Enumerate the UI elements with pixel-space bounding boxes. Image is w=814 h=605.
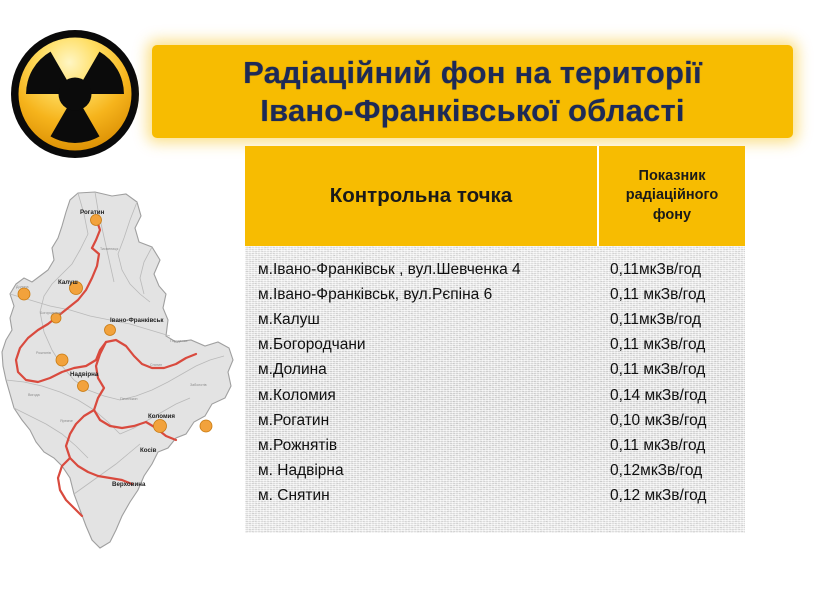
svg-text:Рожнятів: Рожнятів bbox=[36, 351, 51, 355]
column-header-radiation-value: Показник радіаційного фону bbox=[599, 146, 745, 246]
cell-control-point: м. Надвірна bbox=[245, 462, 597, 480]
page-title: Радіаційний фон на території Івано-Франк… bbox=[152, 45, 793, 138]
cell-radiation-value: 0,11мкЗв/год bbox=[597, 261, 745, 279]
cell-control-point: м.Івано-Франківськ , вул.Шевченка 4 bbox=[245, 261, 597, 279]
table-row: м. Снятин0,12 мкЗв/год bbox=[245, 484, 745, 509]
svg-text:Вигода: Вигода bbox=[28, 393, 40, 397]
cell-radiation-value: 0,11 мкЗв/год bbox=[597, 361, 745, 379]
table-header-row: Контрольна точка Показник радіаційного ф… bbox=[245, 146, 745, 246]
svg-text:Долина: Долина bbox=[16, 285, 28, 289]
table-row: м.Долина0,11 мкЗв/год bbox=[245, 358, 745, 383]
cell-control-point: м. Снятин bbox=[245, 487, 597, 505]
cell-control-point: м.Рожнятів bbox=[245, 437, 597, 455]
svg-text:Калуш: Калуш bbox=[58, 279, 78, 286]
cell-control-point: м.Богородчани bbox=[245, 336, 597, 354]
cell-control-point: м.Долина bbox=[245, 361, 597, 379]
svg-text:Заболотів: Заболотів bbox=[190, 383, 207, 387]
table-row: м.Івано-Франківськ, вул.Рєпіна 60,11 мкЗ… bbox=[245, 282, 745, 307]
cell-radiation-value: 0,14 мкЗв/год bbox=[597, 387, 745, 405]
cell-radiation-value: 0,11мкЗв/год bbox=[597, 311, 745, 329]
cell-control-point: м.Коломия bbox=[245, 387, 597, 405]
svg-text:Івано-Франківськ: Івано-Франківськ bbox=[110, 317, 164, 324]
cell-radiation-value: 0,12 мкЗв/год bbox=[597, 487, 745, 505]
table-row: м.Калуш0,11мкЗв/год bbox=[245, 307, 745, 332]
cell-control-point: м.Рогатин bbox=[245, 412, 597, 430]
table-row: м.Рожнятів0,11 мкЗв/год bbox=[245, 433, 745, 458]
cell-radiation-value: 0,11 мкЗв/год bbox=[597, 437, 745, 455]
cell-radiation-value: 0,11 мкЗв/год bbox=[597, 286, 745, 304]
svg-text:Тисмениця: Тисмениця bbox=[100, 247, 118, 251]
cell-control-point: м.Калуш bbox=[245, 311, 597, 329]
column-header-control-point: Контрольна точка bbox=[245, 146, 597, 246]
cell-radiation-value: 0,12мкЗв/год bbox=[597, 462, 745, 480]
table-body: м.Івано-Франківськ , вул.Шевченка 40,11м… bbox=[245, 246, 745, 533]
cell-radiation-value: 0,10 мкЗв/год bbox=[597, 412, 745, 430]
svg-text:Рогатин: Рогатин bbox=[80, 209, 105, 216]
table-row: м.Рогатин0,10 мкЗв/год bbox=[245, 408, 745, 433]
svg-text:Косів: Косів bbox=[140, 447, 157, 454]
table-row: м.Коломия0,14 мкЗв/год bbox=[245, 383, 745, 408]
table-row: м.Івано-Франківськ , вул.Шевченка 40,11м… bbox=[245, 257, 745, 282]
svg-text:Печеніжин: Печеніжин bbox=[120, 397, 138, 401]
radiation-readings-table: Контрольна точка Показник радіаційного ф… bbox=[245, 146, 745, 533]
column-header-line-2: радіаційного bbox=[626, 186, 718, 206]
svg-text:Надвірна: Надвірна bbox=[70, 371, 99, 378]
column-header-line-3: фону bbox=[626, 206, 718, 226]
column-header-line-1: Показник bbox=[626, 167, 718, 187]
page-title-line-2: Івано-Франківської області bbox=[260, 92, 684, 130]
svg-text:Богородчани: Богородчани bbox=[40, 311, 61, 315]
cell-control-point: м.Івано-Франківськ, вул.Рєпіна 6 bbox=[245, 286, 597, 304]
table-row: м. Надвірна0,12мкЗв/год bbox=[245, 459, 745, 484]
svg-text:Коломия: Коломия bbox=[148, 413, 175, 420]
svg-text:Городенка: Городенка bbox=[170, 339, 187, 343]
page-title-line-1: Радіаційний фон на території bbox=[243, 54, 702, 92]
svg-text:Верховина: Верховина bbox=[112, 481, 146, 488]
radiation-trefoil-icon bbox=[8, 27, 142, 161]
oblast-map: Калуш Івано-Франківськ Надвірна Коломия … bbox=[0, 190, 245, 550]
svg-text:Яремче: Яремче bbox=[60, 419, 73, 423]
svg-text:Снятин: Снятин bbox=[150, 363, 162, 367]
table-row: м.Богородчани0,11 мкЗв/год bbox=[245, 333, 745, 358]
cell-radiation-value: 0,11 мкЗв/год bbox=[597, 336, 745, 354]
